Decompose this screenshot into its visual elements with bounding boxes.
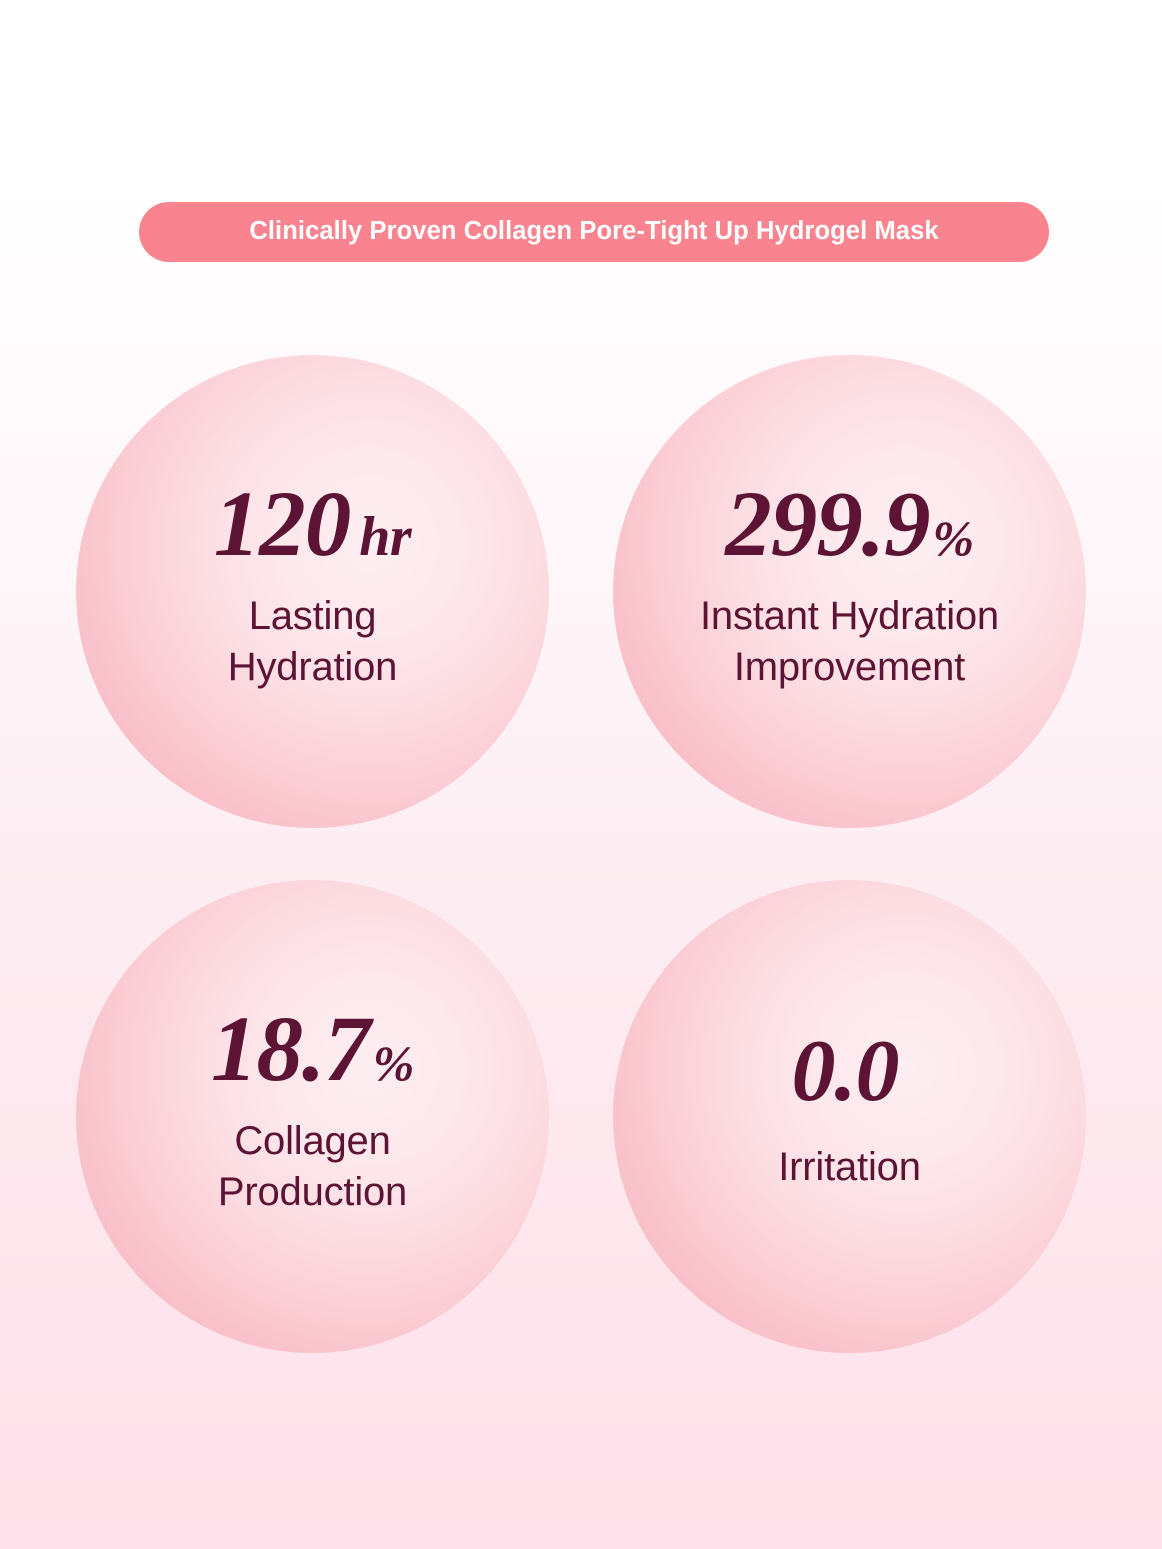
stat-label: Lasting Hydration (228, 591, 397, 693)
stat-value: 299.9% (725, 478, 973, 571)
stat-circle-collagen-production: 18.7% Collagen Production (76, 880, 549, 1353)
stat-unit: % (373, 1038, 414, 1088)
stat-value: 18.7% (211, 1003, 414, 1096)
stat-label: Collagen Production (218, 1116, 407, 1218)
stat-content: 299.9% Instant Hydration Improvement (700, 478, 999, 693)
stat-circle-grid: 120hr Lasting Hydration 299.9% Instant H… (0, 0, 1162, 1549)
infographic-page: Clinically Proven Collagen Pore-Tight Up… (0, 0, 1162, 1549)
stat-circle-irritation: 0.0 Irritation (613, 880, 1086, 1353)
stat-content: 120hr Lasting Hydration (214, 478, 411, 693)
stat-value: 120hr (214, 478, 411, 571)
stat-number: 120 (214, 478, 351, 571)
stat-circle-instant-hydration: 299.9% Instant Hydration Improvement (613, 355, 1086, 828)
stat-value: 0.0 (792, 1028, 908, 1116)
stat-label: Irritation (778, 1142, 921, 1193)
stat-unit: % (933, 513, 974, 563)
stat-label: Instant Hydration Improvement (700, 591, 999, 693)
stat-unit: hr (359, 509, 411, 565)
stat-content: 18.7% Collagen Production (211, 1003, 414, 1218)
stat-number: 0.0 (792, 1028, 899, 1116)
stat-circle-lasting-hydration: 120hr Lasting Hydration (76, 355, 549, 828)
stat-number: 18.7 (211, 1003, 370, 1096)
stat-content: 0.0 Irritation (778, 1028, 921, 1193)
stat-number: 299.9 (725, 478, 929, 571)
